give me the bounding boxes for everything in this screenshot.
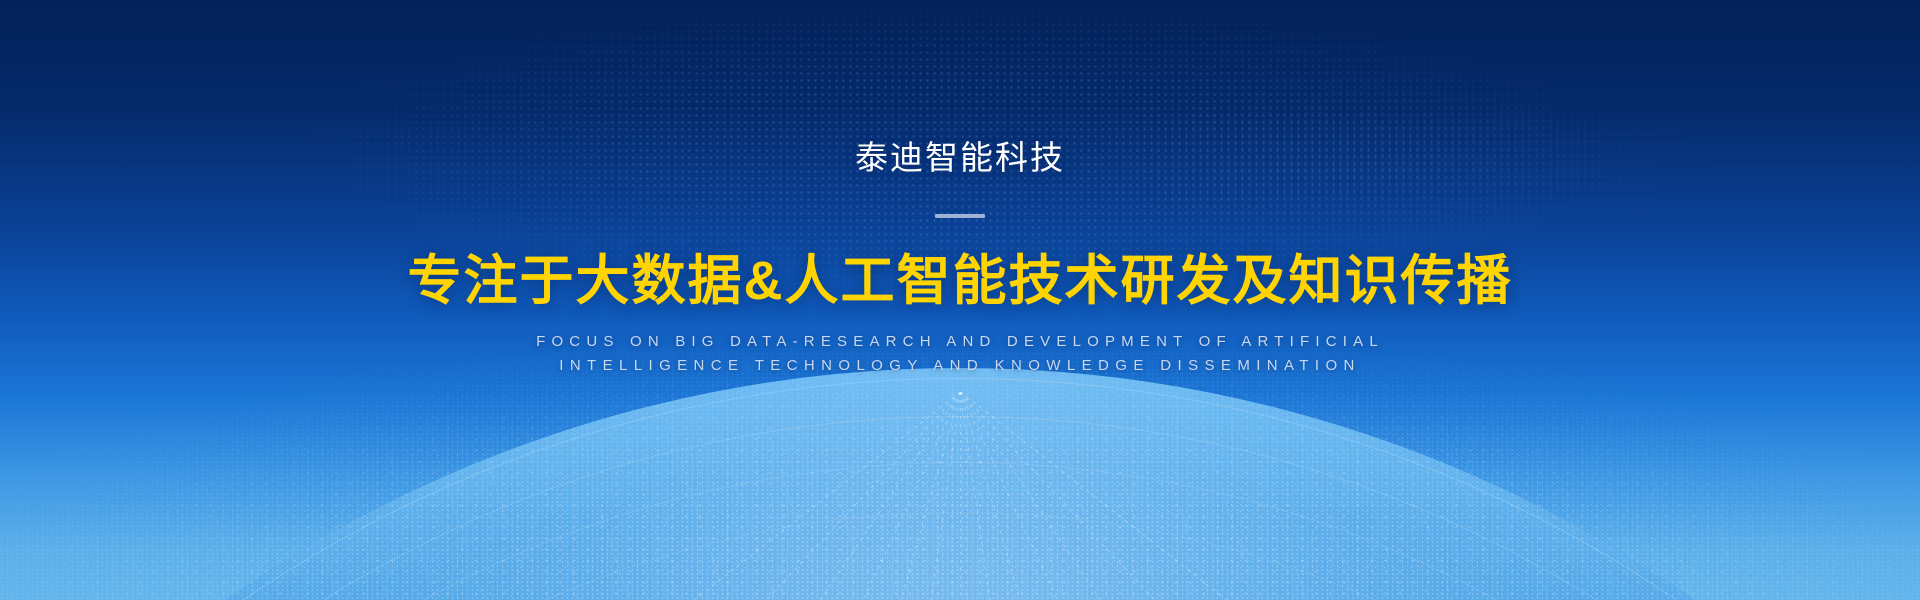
subtitle-line-1: FOCUS ON BIG DATA-RESEARCH AND DEVELOPME…: [536, 330, 1384, 354]
latitude-arc-icon: [0, 416, 1920, 600]
world-map-dots-accent-icon: [0, 40, 1920, 340]
latitude-arc-icon: [0, 462, 1920, 600]
latitude-arc-icon: [0, 378, 1920, 600]
subtitle-line-2: INTELLIGENCE TECHNOLOGY AND KNOWLEDGE DI…: [536, 354, 1384, 378]
globe-sphere-icon: [0, 368, 1920, 600]
brand-title: 泰迪智能科技: [855, 140, 1065, 176]
world-map-dots-icon: [0, 0, 1920, 330]
city-light-streaks-icon: [0, 352, 1920, 600]
globe-meridian-lines-icon: [0, 392, 1920, 600]
banner-content: 泰迪智能科技 专注于大数据&人工智能技术研发及知识传播 FOCUS ON BIG…: [0, 0, 1920, 600]
subtitle-block: FOCUS ON BIG DATA-RESEARCH AND DEVELOPME…: [536, 330, 1384, 378]
title-divider: [935, 214, 985, 218]
city-texture-icon: [0, 352, 1920, 600]
hero-banner: 泰迪智能科技 专注于大数据&人工智能技术研发及知识传播 FOCUS ON BIG…: [0, 0, 1920, 600]
latitude-arc-icon: [0, 512, 1920, 600]
headline-text: 专注于大数据&人工智能技术研发及知识传播: [408, 251, 1513, 311]
